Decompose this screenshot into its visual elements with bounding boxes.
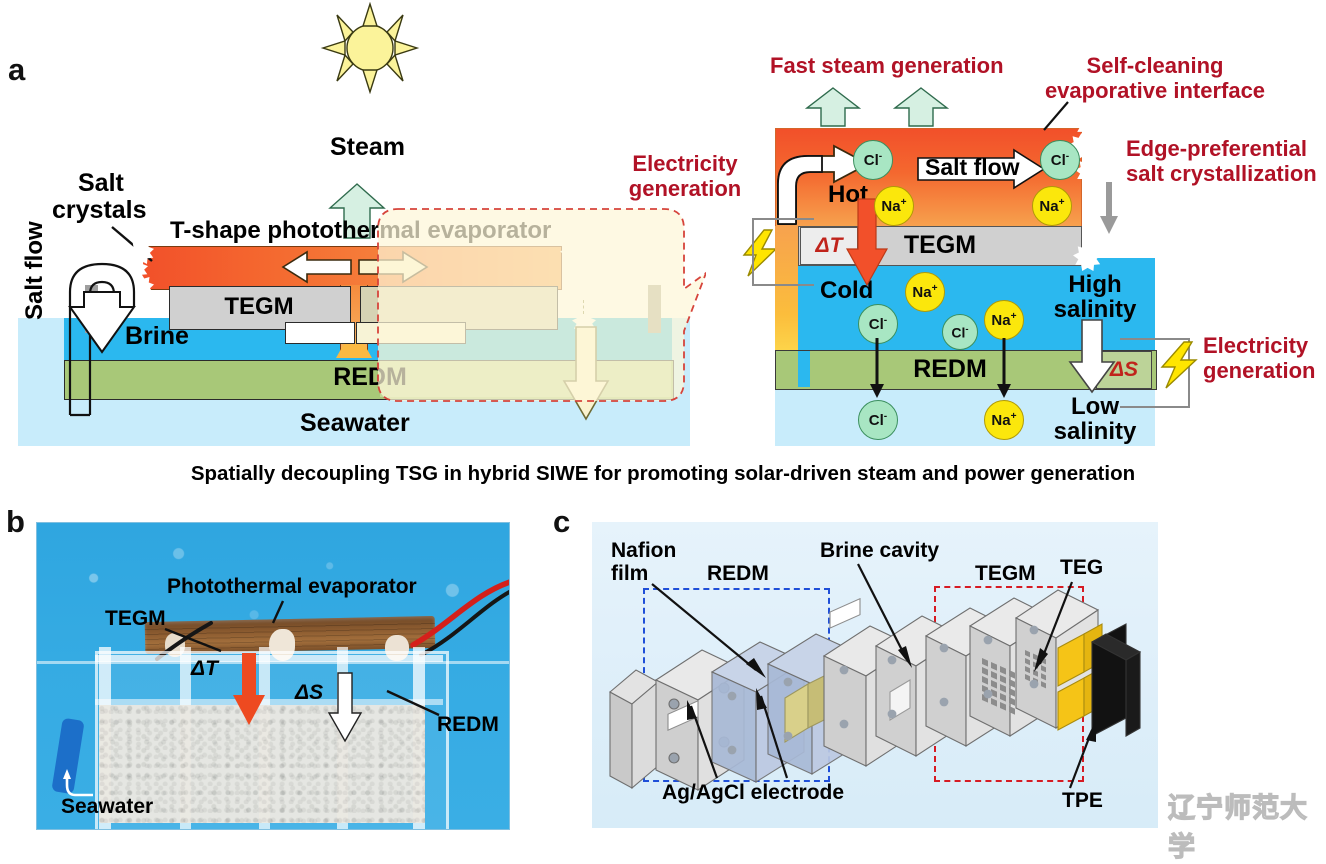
ion-na-icon: Na+ xyxy=(1032,186,1072,226)
panel-letter-b: b xyxy=(6,504,25,540)
sun-icon xyxy=(315,2,425,94)
watermark-text: 辽宁师范大学 xyxy=(1168,786,1326,864)
flow-arrow-left-icon xyxy=(281,250,353,284)
fast-steam-arrow-icon xyxy=(805,86,861,128)
ion-na-icon: Na+ xyxy=(874,186,914,226)
ion-na-text: Na+ xyxy=(912,283,937,301)
photo-evaporator-leader xyxy=(267,599,289,625)
ion-cl-icon: Cl- xyxy=(853,140,893,180)
panel-c-tpe-leader xyxy=(1058,718,1102,792)
right-lightning-bolt-icon xyxy=(1156,340,1202,390)
low-salinity-label-line2: salinity xyxy=(1040,419,1150,445)
redm-label-left: REDM xyxy=(280,364,460,391)
photo-delta-s-label: ΔS xyxy=(295,681,323,705)
ion-cl-text: Cl- xyxy=(951,324,968,341)
tegm-circuit-wire xyxy=(752,218,814,286)
ion-cl-icon: Cl- xyxy=(858,400,898,440)
salt-flow-loop-icon xyxy=(50,252,180,417)
flow-arrow-right-icon xyxy=(357,250,429,284)
ion-na-text: Na+ xyxy=(991,411,1016,429)
high-salinity-label-line1: High xyxy=(1040,272,1150,298)
photo-delta-t-label: ΔT xyxy=(191,657,218,681)
callout-electricity-label-line1: Electricity xyxy=(600,152,770,176)
photo-delta-s-arrow-icon xyxy=(327,671,363,743)
photo-tegm-label: TEGM xyxy=(105,607,166,631)
seawater-label: Seawater xyxy=(300,410,410,437)
ion-na-icon: Na+ xyxy=(905,272,945,312)
salt-crystals-label-line2: crystals xyxy=(52,197,147,224)
panel-c-tegm-label: TEGM xyxy=(975,563,1036,586)
tegm-label-left: TEGM xyxy=(169,294,349,320)
photo-photothermal-evaporator-label: Photothermal evaporator xyxy=(167,575,417,599)
panel-letter-a: a xyxy=(8,52,25,88)
redm-gap xyxy=(798,351,810,387)
panel-c-agagcl-leader-1 xyxy=(685,700,721,782)
panel-c-nafion-label-line2: film xyxy=(611,563,648,586)
brine-channel-right xyxy=(356,322,466,344)
salt-flow-label-left: Salt flow xyxy=(22,221,48,320)
brine-channel-left xyxy=(285,322,355,344)
water-down-arrow-icon xyxy=(562,325,610,421)
ion-cl-text: Cl- xyxy=(869,411,887,429)
ion-cl-text: Cl- xyxy=(1051,151,1069,169)
ion-cl-text: Cl- xyxy=(869,315,887,333)
salt-descend-arrow-icon xyxy=(1098,180,1120,236)
panel-c-teg-label: TEG xyxy=(1060,557,1103,580)
ion-migration-arrow-icon xyxy=(995,338,1013,400)
ion-cl-icon: Cl- xyxy=(1040,140,1080,180)
panel-c-agagcl-leader-2 xyxy=(753,688,791,782)
evaporator-title-label: T-shape photothermal evaporator xyxy=(170,218,551,244)
steam-label: Steam xyxy=(330,134,405,161)
panel-c-brine-cavity-leader xyxy=(856,562,918,672)
delta-t-text: ΔT xyxy=(816,234,843,258)
self-cleaning-leader-line xyxy=(1040,100,1072,132)
ion-migration-arrow-icon xyxy=(868,338,886,400)
panel-c-nafion-label-line1: Nafion xyxy=(611,540,676,563)
panel-letter-c: c xyxy=(553,504,570,540)
right-electricity-label-line1: Electricity xyxy=(1203,334,1308,358)
ion-na-icon: Na+ xyxy=(984,400,1024,440)
fast-steam-arrow-icon xyxy=(893,86,949,128)
panel-c-tpe-label: TPE xyxy=(1062,790,1103,813)
panel-c-teg-leader xyxy=(1030,580,1076,676)
ion-na-icon: Na+ xyxy=(984,300,1024,340)
panel-c-brine-cavity-label: Brine cavity xyxy=(820,540,939,563)
ion-cl-text: Cl- xyxy=(864,151,882,169)
ion-na-text: Na+ xyxy=(991,311,1016,329)
photo-tegm-leader xyxy=(163,625,225,655)
photo-seawater-leader-icon xyxy=(63,767,97,799)
ion-na-text: Na+ xyxy=(881,197,906,215)
panel-b-photo: Photothermal evaporator TEGM ΔT ΔS REDM … xyxy=(36,522,510,830)
ion-na-text: Na+ xyxy=(1039,197,1064,215)
photo-delta-t-arrow-icon xyxy=(231,651,267,727)
tank-post-right xyxy=(648,285,661,333)
right-salt-flow-label: Salt flow xyxy=(925,155,1020,180)
photo-redm-label: REDM xyxy=(437,713,499,737)
panel-c-ag-agcl-label: Ag/AgCl electrode xyxy=(662,782,844,805)
salt-fall-dashed-line xyxy=(583,300,586,314)
right-electricity-label-line2: generation xyxy=(1203,359,1315,383)
ion-cl-icon: Cl- xyxy=(942,314,978,350)
panel-c-nafion-leader xyxy=(650,582,772,682)
figure-caption: Spatially decoupling TSG in hybrid SIWE … xyxy=(0,462,1326,486)
edge-crystallization-label-line2: salt crystallization xyxy=(1126,162,1317,186)
fast-steam-generation-label: Fast steam generation xyxy=(770,54,1004,78)
self-cleaning-label-line1: Self-cleaning xyxy=(1040,54,1270,78)
panel-c-redm-label: REDM xyxy=(707,563,769,586)
callout-electricity-label-line2: generation xyxy=(600,177,770,201)
salinity-gradient-arrow-icon xyxy=(1068,318,1116,394)
photo-redm-leader xyxy=(385,687,443,719)
edge-crystallization-label-line1: Edge-preferential xyxy=(1126,137,1307,161)
salt-crystals-label-line1: Salt xyxy=(78,170,124,197)
